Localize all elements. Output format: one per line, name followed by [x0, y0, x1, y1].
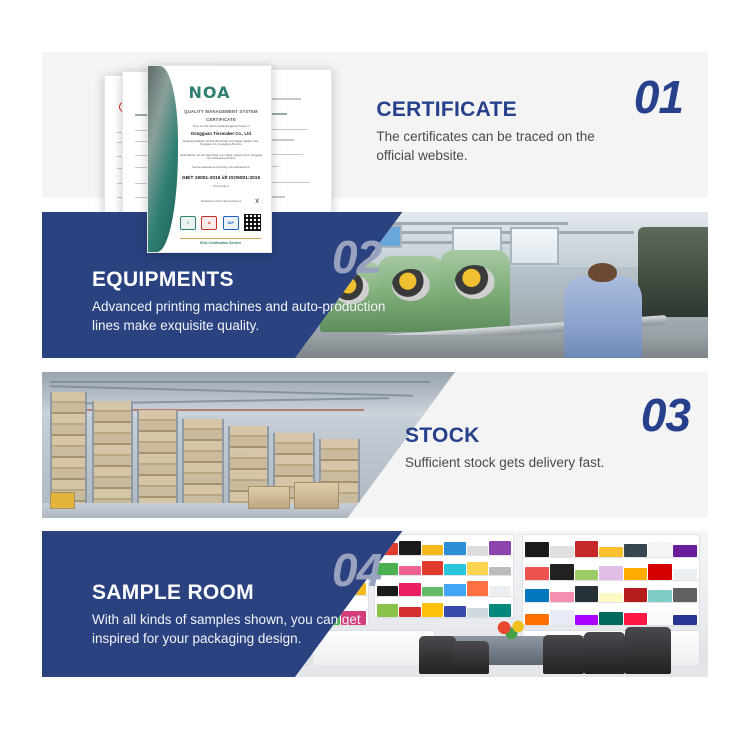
shelf-row	[523, 535, 699, 558]
row1-panel: CERTIFICATE The certificates can be trac…	[42, 52, 708, 198]
office-chair	[584, 632, 625, 674]
row3-description: Sufficient stock gets delivery fast.	[405, 454, 665, 473]
row4-panel: SAMPLE ROOM With all kinds of samples sh…	[42, 531, 708, 677]
advantage-row-sample-room: SAMPLE ROOM With all kinds of samples sh…	[42, 531, 708, 677]
row4-number: 04	[332, 543, 381, 597]
sample-tin	[673, 569, 697, 579]
sample-tin	[624, 588, 648, 602]
sample-tin	[444, 606, 466, 617]
sample-tin	[550, 564, 574, 579]
shelf-row	[523, 558, 699, 581]
advantage-row-certificate: CERTIFICATE The certificates can be trac…	[42, 52, 708, 198]
sample-tin	[422, 545, 444, 555]
pallet-rack	[50, 392, 87, 506]
row3-heading: STOCK	[405, 424, 480, 448]
advantage-row-stock: STOCK Sufficient stock gets delivery fas…	[42, 372, 708, 518]
forklift	[50, 492, 75, 510]
sample-tin	[467, 608, 489, 617]
sample-tin	[550, 546, 574, 557]
sample-tin	[489, 541, 511, 554]
sample-tin	[575, 541, 599, 557]
roof-truss	[50, 381, 430, 383]
pallet-rack	[137, 410, 178, 506]
advantage-row-equipments: EQUIPMENTS Advanced printing machines an…	[42, 212, 708, 358]
factory-window	[510, 227, 560, 265]
display-shelf	[522, 534, 700, 627]
sample-tin	[673, 615, 697, 625]
stacked-pallet	[294, 482, 339, 510]
sample-tin	[599, 593, 623, 603]
sample-tin	[467, 581, 489, 596]
row2-description: Advanced printing machines and auto-prod…	[92, 298, 402, 335]
sample-tin	[624, 544, 648, 557]
sample-tin	[599, 612, 623, 626]
row3-number: 03	[641, 388, 690, 442]
flower-arrangement	[493, 620, 530, 639]
sample-tin	[525, 542, 549, 556]
row2-heading: EQUIPMENTS	[92, 268, 234, 292]
sample-tin	[599, 566, 623, 580]
pallet-rack	[182, 419, 223, 507]
row4-heading: SAMPLE ROOM	[92, 581, 254, 605]
sample-tin	[673, 545, 697, 556]
sample-tin	[467, 562, 489, 575]
sample-tin	[525, 589, 549, 603]
stacked-pallet	[248, 486, 289, 509]
row3-panel: STOCK Sufficient stock gets delivery fas…	[42, 372, 708, 518]
sample-tin	[525, 567, 549, 580]
sample-tin	[550, 610, 574, 625]
worker-head	[588, 263, 617, 282]
sample-tin	[575, 615, 599, 625]
sample-tin	[489, 586, 511, 596]
row2-number: 02	[332, 230, 381, 284]
office-chair	[452, 641, 489, 675]
sample-tin	[624, 568, 648, 580]
office-chair	[543, 635, 584, 674]
sample-tin	[575, 570, 599, 580]
dark-machine	[638, 227, 708, 318]
sample-tin	[648, 590, 672, 602]
sample-tin	[489, 567, 511, 575]
sample-tin	[673, 588, 697, 603]
shelf-row	[523, 603, 699, 626]
row1-description: The certificates can be traced on the of…	[376, 128, 626, 165]
sample-tin	[422, 561, 444, 575]
sample-tin	[422, 603, 444, 617]
sample-tin	[444, 584, 466, 596]
sample-tin	[599, 547, 623, 557]
sample-tin	[467, 546, 489, 555]
office-chair	[419, 636, 456, 674]
sample-tin	[648, 542, 672, 557]
sample-tin	[489, 604, 511, 616]
sample-tin	[648, 610, 672, 626]
sample-tin	[575, 586, 599, 602]
sample-tin	[624, 613, 648, 626]
row4-description: With all kinds of samples shown, you can…	[92, 611, 392, 648]
factory-worker	[564, 276, 642, 358]
row1-number: 01	[634, 70, 683, 124]
sample-tin	[444, 564, 466, 575]
punch-press	[440, 250, 510, 332]
shelf-row	[523, 581, 699, 604]
certificate-scope: Production of tins cans and boxes	[179, 200, 262, 203]
sample-tin	[422, 587, 444, 596]
row2-panel: EQUIPMENTS Advanced printing machines an…	[42, 212, 708, 358]
sample-tin	[444, 542, 466, 555]
sample-tin	[550, 592, 574, 603]
row1-heading: CERTIFICATE	[376, 98, 517, 122]
advantages-board: CERTIFICATE The certificates can be trac…	[0, 0, 750, 739]
pallet-rack	[92, 401, 133, 506]
office-chair	[625, 627, 670, 674]
sample-tin	[648, 564, 672, 580]
